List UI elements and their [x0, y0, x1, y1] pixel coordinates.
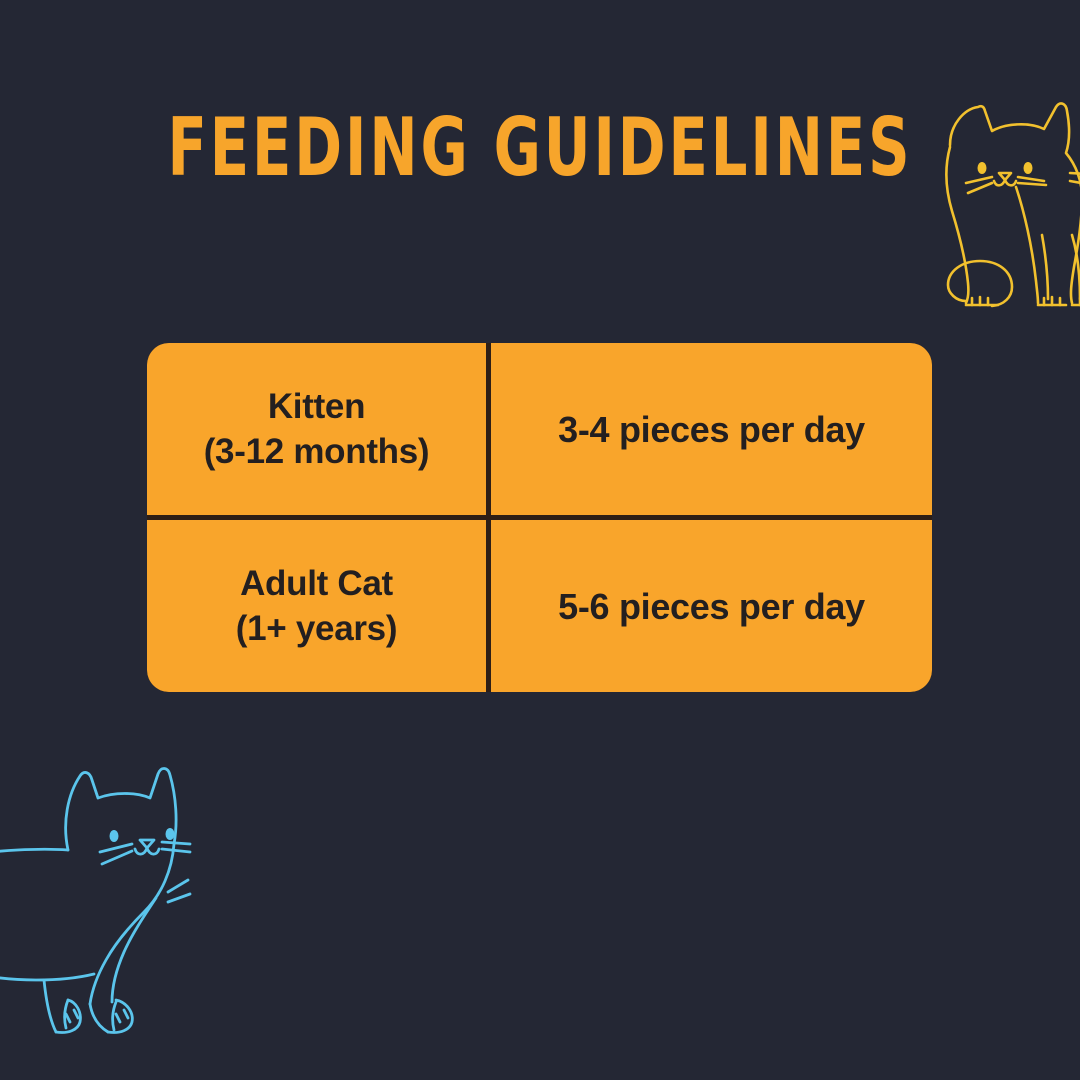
table-row: Kitten (3-12 months) 3-4 pieces per day	[147, 343, 932, 515]
age-group-line2: (3-12 months)	[204, 432, 430, 471]
table-cell-age-group: Kitten (3-12 months)	[147, 343, 486, 515]
table-cell-amount: 3-4 pieces per day	[491, 343, 932, 515]
table-cell-amount: 5-6 pieces per day	[491, 520, 932, 692]
walking-cat-illustration	[0, 752, 230, 1042]
age-group-line2: (1+ years)	[236, 609, 397, 648]
table-row: Adult Cat (1+ years) 5-6 pieces per day	[147, 520, 932, 692]
age-group-line1: Kitten	[268, 387, 365, 426]
page-title: FEEDING GUIDELINES	[16, 108, 1064, 189]
poster-canvas: FEEDING GUIDELINES	[0, 0, 1080, 1080]
feeding-guidelines-table: Kitten (3-12 months) 3-4 pieces per day …	[147, 343, 932, 692]
age-group-line1: Adult Cat	[240, 564, 393, 603]
table-cell-age-group: Adult Cat (1+ years)	[147, 520, 486, 692]
